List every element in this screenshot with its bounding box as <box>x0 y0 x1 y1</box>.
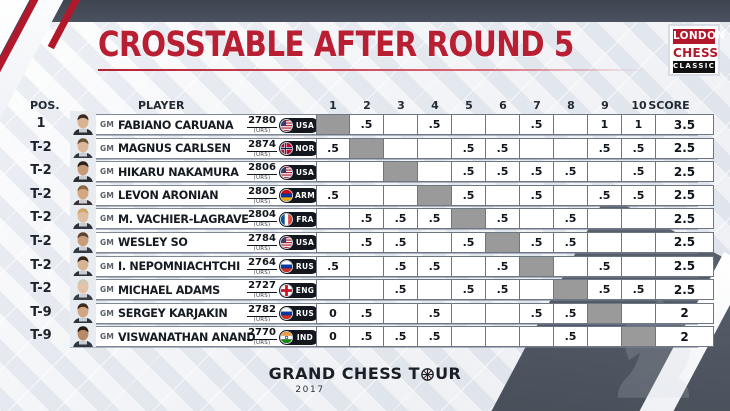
table-row[interactable]: T-2GMWESLEY SO2784(URS)USA.5.5.5.5.52.5 <box>0 231 730 255</box>
player-rating-source: (URS) <box>247 153 277 159</box>
result-cell[interactable] <box>588 326 622 347</box>
player-plate[interactable]: GMHIKARU NAKAMURA2806(URS)USA <box>70 161 322 182</box>
player-plate[interactable]: GMM. VACHIER-LAGRAVE2804(URS)FRA <box>70 208 322 229</box>
result-cell-self[interactable] <box>622 326 656 347</box>
player-rating-source: (URS) <box>247 247 277 253</box>
result-cell[interactable] <box>350 161 384 182</box>
player-plate[interactable]: GMWESLEY SO2784(URS)USA <box>70 232 322 253</box>
result-cell[interactable] <box>350 256 384 277</box>
page-title: CROSSTABLE AFTER ROUND 5 <box>98 28 619 63</box>
player-rating-source: (URS) <box>247 318 277 324</box>
result-cell[interactable] <box>418 232 452 253</box>
result-cell[interactable]: .5 <box>350 208 384 229</box>
result-cell[interactable] <box>384 138 418 159</box>
result-cell[interactable]: .5 <box>350 303 384 324</box>
result-grid: .5.5.5.5.52.5 <box>316 185 714 206</box>
country-badge: ENG <box>279 283 319 298</box>
player-rating: 2782 <box>247 305 277 317</box>
result-cell[interactable] <box>520 138 554 159</box>
player-rating: 2770 <box>247 328 277 340</box>
result-cell[interactable]: .5 <box>554 208 588 229</box>
result-cell[interactable]: .5 <box>622 185 656 206</box>
player-plate[interactable]: GMI. NEPOMNIACHTCHI2764(URS)RUS <box>70 256 322 277</box>
result-cell[interactable]: .5 <box>384 232 418 253</box>
result-cell[interactable]: .5 <box>452 279 486 300</box>
result-cell[interactable]: .5 <box>418 256 452 277</box>
result-cell[interactable]: .5 <box>316 138 350 159</box>
result-cell-self[interactable] <box>520 256 554 277</box>
table-row[interactable]: T-2GMLEVON ARONIAN2805(URS)ARM.5.5.5.5.5… <box>0 184 730 208</box>
logo-line-chess: CHESS <box>673 44 715 61</box>
result-cell[interactable] <box>520 208 554 229</box>
player-avatar <box>70 323 96 347</box>
result-cell[interactable]: 1 <box>588 114 622 135</box>
result-cell[interactable] <box>486 114 520 135</box>
result-cell[interactable] <box>486 185 520 206</box>
result-cell[interactable]: .5 <box>316 185 350 206</box>
player-name: WESLEY SO <box>118 235 188 249</box>
player-score: 2.5 <box>656 256 714 277</box>
result-grid: .5.5.5.5.52.5 <box>316 208 714 229</box>
result-cell[interactable]: .5 <box>452 138 486 159</box>
row-position: T-2 <box>18 258 64 273</box>
row-position: 1 <box>18 116 64 131</box>
result-cell[interactable]: .5 <box>350 114 384 135</box>
result-cell[interactable] <box>588 232 622 253</box>
column-header-pos: POS. <box>30 99 60 112</box>
player-rating: 2727 <box>247 281 277 293</box>
player-score: 2.5 <box>656 232 714 253</box>
player-rating-box: 2784(URS) <box>247 234 277 253</box>
player-rating-box: 2782(URS) <box>247 305 277 324</box>
result-cell[interactable]: .5 <box>520 185 554 206</box>
result-cell[interactable]: .5 <box>486 208 520 229</box>
player-avatar <box>70 300 96 324</box>
result-grid: 0.5.5.5.52 <box>316 326 714 347</box>
result-cell[interactable] <box>554 114 588 135</box>
result-cell[interactable] <box>520 326 554 347</box>
player-plate[interactable]: GMMAGNUS CARLSEN2874(URS)NOR <box>70 138 322 159</box>
globe-icon <box>421 368 434 381</box>
player-score: 2.5 <box>656 279 714 300</box>
country-badge: RUS <box>279 306 319 321</box>
footer: GRAND CHESS T UR 2017 <box>0 364 730 395</box>
result-cell[interactable] <box>588 208 622 229</box>
result-cell-self[interactable] <box>554 279 588 300</box>
table-row[interactable]: T-2GMM. VACHIER-LAGRAVE2804(URS)FRA.5.5.… <box>0 207 730 231</box>
flag-arm-icon <box>280 189 293 202</box>
player-rating-source: (URS) <box>247 200 277 206</box>
result-cell[interactable]: .5 <box>418 114 452 135</box>
player-plate[interactable]: GMSERGEY KARJAKIN2782(URS)RUS <box>70 303 322 324</box>
result-cell[interactable]: .5 <box>452 185 486 206</box>
row-position: T-9 <box>18 328 64 343</box>
result-cell[interactable]: .5 <box>554 232 588 253</box>
logo-line-classic: CLASSIC <box>673 61 715 73</box>
result-cell[interactable]: .5 <box>350 232 384 253</box>
result-cell[interactable] <box>588 161 622 182</box>
result-cell[interactable]: .5 <box>418 326 452 347</box>
player-name: LEVON ARONIAN <box>118 188 218 202</box>
player-rating: 2874 <box>247 140 277 152</box>
player-rating: 2805 <box>247 187 277 199</box>
result-cell[interactable] <box>622 303 656 324</box>
result-cell[interactable] <box>622 256 656 277</box>
result-cell[interactable]: .5 <box>554 326 588 347</box>
flag-rus-icon <box>280 307 293 320</box>
player-name: MAGNUS CARLSEN <box>118 141 231 155</box>
result-cell[interactable]: 0 <box>316 303 350 324</box>
table-row[interactable]: T-2GMI. NEPOMNIACHTCHI2764(URS)RUS.5.5.5… <box>0 255 730 279</box>
column-header-opponent-1: 1 <box>316 99 350 112</box>
table-row[interactable]: T-9GMSERGEY KARJAKIN2782(URS)RUS0.5.5.5.… <box>0 302 730 326</box>
player-plate[interactable]: GMFABIANO CARUANA2780(URS)USA <box>70 114 322 135</box>
player-title: GM <box>100 285 114 294</box>
player-rating: 2804 <box>247 210 277 222</box>
gct-year: 2017 <box>277 385 453 395</box>
player-score: 2.5 <box>656 161 714 182</box>
result-cell[interactable]: .5 <box>316 256 350 277</box>
player-score: 2 <box>656 303 714 324</box>
result-cell[interactable] <box>316 279 350 300</box>
result-cell[interactable]: .5 <box>452 161 486 182</box>
player-rating: 2764 <box>247 258 277 270</box>
player-avatar <box>70 276 96 300</box>
country-badge: USA <box>279 165 319 180</box>
player-name: I. NEPOMNIACHTCHI <box>118 259 240 273</box>
header: CROSSTABLE AFTER ROUND 5 <box>98 28 658 71</box>
player-title: GM <box>100 238 114 247</box>
result-cell[interactable]: .5 <box>622 161 656 182</box>
result-cell[interactable] <box>316 161 350 182</box>
player-rating-source: (URS) <box>247 341 277 347</box>
result-cell[interactable] <box>418 138 452 159</box>
country-badge: RUS <box>279 259 319 274</box>
country-badge: ARM <box>279 188 319 203</box>
result-cell[interactable] <box>418 279 452 300</box>
result-cell[interactable]: .5 <box>520 114 554 135</box>
result-grid: .5.5.5.5.52.5 <box>316 138 714 159</box>
player-title: GM <box>100 262 114 271</box>
column-header-opponent-8: 8 <box>554 99 588 112</box>
player-score: 3.5 <box>656 114 714 135</box>
result-cell[interactable]: .5 <box>588 185 622 206</box>
row-position: T-9 <box>18 305 64 320</box>
row-position: T-2 <box>18 163 64 178</box>
flag-nor-icon <box>280 142 293 155</box>
player-name: SERGEY KARJAKIN <box>118 306 227 320</box>
player-title: GM <box>100 144 114 153</box>
player-name: HIKARU NAKAMURA <box>118 165 239 179</box>
crosstable-body: 1GMFABIANO CARUANA2780(URS)USA.5.5.5113.… <box>0 113 730 349</box>
player-name: VISWANATHAN ANAND <box>118 330 255 344</box>
player-rating-source: (URS) <box>247 271 277 277</box>
column-header-opponent-9: 9 <box>588 99 622 112</box>
gct-text-part1: GRAND CHESS T <box>269 364 420 383</box>
result-cell[interactable]: .5 <box>350 326 384 347</box>
result-cell[interactable]: .5 <box>384 256 418 277</box>
result-cell-self[interactable] <box>452 208 486 229</box>
result-cell[interactable]: .5 <box>384 208 418 229</box>
flag-ind-icon <box>280 331 293 344</box>
grand-chess-tour-wordmark: GRAND CHESS T UR <box>269 364 462 383</box>
result-cell[interactable]: .5 <box>452 232 486 253</box>
player-name: FABIANO CARUANA <box>118 118 233 132</box>
result-cell[interactable]: 0 <box>316 326 350 347</box>
row-position: T-2 <box>18 234 64 249</box>
player-plate[interactable]: GMLEVON ARONIAN2805(URS)ARM <box>70 185 322 206</box>
result-cell[interactable] <box>316 208 350 229</box>
result-cell[interactable] <box>384 114 418 135</box>
player-rating-source: (URS) <box>247 176 277 182</box>
result-cell[interactable]: .5 <box>588 256 622 277</box>
flag-eng-icon <box>280 284 293 297</box>
result-cell-self[interactable] <box>384 161 418 182</box>
table-row[interactable]: T-9GMVISWANATHAN ANAND2770(URS)IND0.5.5.… <box>0 325 730 349</box>
row-separator <box>70 347 698 348</box>
player-title: GM <box>100 191 114 200</box>
column-header-player: PLAYER <box>138 99 184 112</box>
result-cell[interactable] <box>452 303 486 324</box>
result-cell[interactable]: 1 <box>622 114 656 135</box>
column-header-opponent-6: 6 <box>486 99 520 112</box>
table-row[interactable]: T-2GMMICHAEL ADAMS2727(URS)ENG.5.5.5.5.5… <box>0 278 730 302</box>
column-header-opponent-2: 2 <box>350 99 384 112</box>
country-badge: NOR <box>279 141 319 156</box>
result-cell[interactable]: .5 <box>486 138 520 159</box>
player-rating-box: 2780(URS) <box>247 116 277 135</box>
player-title: GM <box>100 214 114 223</box>
player-rating: 2784 <box>247 234 277 246</box>
player-rating-box: 2727(URS) <box>247 281 277 300</box>
result-cell[interactable]: .5 <box>486 161 520 182</box>
result-cell[interactable]: .5 <box>554 303 588 324</box>
player-avatar <box>70 229 96 253</box>
gct-text-part2: UR <box>435 364 461 383</box>
player-rating-source: (URS) <box>247 129 277 135</box>
result-cell-self[interactable] <box>316 114 350 135</box>
column-header-opponent-5: 5 <box>452 99 486 112</box>
player-avatar <box>70 135 96 159</box>
player-rating-box: 2804(URS) <box>247 210 277 229</box>
player-score: 2.5 <box>656 138 714 159</box>
player-name: MICHAEL ADAMS <box>118 283 220 297</box>
result-cell[interactable] <box>622 232 656 253</box>
player-rating: 2806 <box>247 163 277 175</box>
result-cell-self[interactable] <box>588 303 622 324</box>
table-row[interactable]: T-2GMHIKARU NAKAMURA2806(URS)USA.5.5.5.5… <box>0 160 730 184</box>
result-cell[interactable]: .5 <box>588 138 622 159</box>
player-plate[interactable]: GMMICHAEL ADAMS2727(URS)ENG <box>70 279 322 300</box>
result-cell[interactable] <box>554 185 588 206</box>
player-score: 2 <box>656 326 714 347</box>
player-score: 2.5 <box>656 185 714 206</box>
result-grid: .5.5.5.5.52.5 <box>316 161 714 182</box>
result-cell[interactable] <box>554 256 588 277</box>
flag-usa-icon <box>280 166 293 179</box>
result-cell[interactable] <box>452 326 486 347</box>
broadcast-graphic: CROSSTABLE AFTER ROUND 5 LONDON CHESS CL… <box>0 0 730 411</box>
column-header-opponent-7: 7 <box>520 99 554 112</box>
player-rating-box: 2806(URS) <box>247 163 277 182</box>
player-rating: 2780 <box>247 116 277 128</box>
top-band <box>0 0 730 22</box>
result-cell[interactable]: .5 <box>384 326 418 347</box>
player-rating-box: 2770(URS) <box>247 328 277 347</box>
result-grid: .5.5.5.5.52.5 <box>316 256 714 277</box>
flag-rus-icon <box>280 260 293 273</box>
result-cell[interactable]: .5 <box>588 279 622 300</box>
result-cell[interactable] <box>554 138 588 159</box>
result-cell[interactable] <box>350 279 384 300</box>
result-cell-self[interactable] <box>486 232 520 253</box>
row-position: T-2 <box>18 140 64 155</box>
row-position: T-2 <box>18 210 64 225</box>
country-badge: IND <box>279 330 319 345</box>
logo-line-london: LONDON <box>673 29 715 44</box>
country-badge: FRA <box>279 212 319 227</box>
result-cell[interactable]: .5 <box>384 279 418 300</box>
player-avatar <box>70 253 96 277</box>
result-cell[interactable]: .5 <box>520 161 554 182</box>
flag-fra-icon <box>280 213 293 226</box>
result-cell[interactable] <box>622 208 656 229</box>
player-name: M. VACHIER-LAGRAVE <box>118 212 249 226</box>
result-cell[interactable] <box>486 326 520 347</box>
result-cell[interactable] <box>316 232 350 253</box>
player-avatar <box>70 205 96 229</box>
result-grid: .5.5.5113.5 <box>316 114 714 135</box>
table-row[interactable]: 1GMFABIANO CARUANA2780(URS)USA.5.5.5113.… <box>0 113 730 137</box>
result-cell[interactable] <box>384 185 418 206</box>
player-title: GM <box>100 309 114 318</box>
result-cell[interactable]: .5 <box>418 303 452 324</box>
player-score: 2.5 <box>656 208 714 229</box>
player-rating-source: (URS) <box>247 294 277 300</box>
result-cell[interactable] <box>452 114 486 135</box>
column-header-opponent-10: 10 <box>622 99 656 112</box>
player-rating-source: (URS) <box>247 223 277 229</box>
result-cell[interactable] <box>350 185 384 206</box>
player-title: GM <box>100 332 114 341</box>
player-rating-box: 2805(URS) <box>247 187 277 206</box>
result-cell-self[interactable] <box>418 185 452 206</box>
result-cell[interactable]: .5 <box>554 161 588 182</box>
column-header-opponent-4: 4 <box>418 99 452 112</box>
result-grid: 0.5.5.5.52 <box>316 303 714 324</box>
result-cell-self[interactable] <box>350 138 384 159</box>
player-title: GM <box>100 120 114 129</box>
country-badge: USA <box>279 118 319 133</box>
flag-usa-icon <box>280 236 293 249</box>
player-avatar <box>70 182 96 206</box>
result-cell[interactable]: .5 <box>622 138 656 159</box>
result-cell[interactable]: .5 <box>486 279 520 300</box>
london-chess-classic-logo: LONDON CHESS CLASSIC <box>668 24 720 76</box>
result-grid: .5.5.5.5.52.5 <box>316 232 714 253</box>
result-cell[interactable] <box>486 303 520 324</box>
result-cell[interactable] <box>520 279 554 300</box>
player-rating-box: 2764(URS) <box>247 258 277 277</box>
result-cell[interactable] <box>418 161 452 182</box>
player-plate[interactable]: GMVISWANATHAN ANAND2770(URS)IND <box>70 326 322 347</box>
row-position: T-2 <box>18 281 64 296</box>
table-row[interactable]: T-2GMMAGNUS CARLSEN2874(URS)NOR.5.5.5.5.… <box>0 137 730 161</box>
player-avatar <box>70 158 96 182</box>
result-cell[interactable]: .5 <box>486 256 520 277</box>
result-cell[interactable] <box>452 256 486 277</box>
result-cell[interactable]: .5 <box>520 232 554 253</box>
player-avatar <box>70 111 96 135</box>
player-title: GM <box>100 167 114 176</box>
result-cell[interactable]: .5 <box>520 303 554 324</box>
row-position: T-2 <box>18 187 64 202</box>
result-cell[interactable]: .5 <box>622 279 656 300</box>
result-grid: .5.5.5.5.52.5 <box>316 279 714 300</box>
column-header-opponent-3: 3 <box>384 99 418 112</box>
country-badge: USA <box>279 235 319 250</box>
result-cell[interactable]: .5 <box>418 208 452 229</box>
flag-usa-icon <box>280 119 293 132</box>
result-cell[interactable] <box>384 303 418 324</box>
player-rating-box: 2874(URS) <box>247 140 277 159</box>
title-underline <box>98 69 648 71</box>
